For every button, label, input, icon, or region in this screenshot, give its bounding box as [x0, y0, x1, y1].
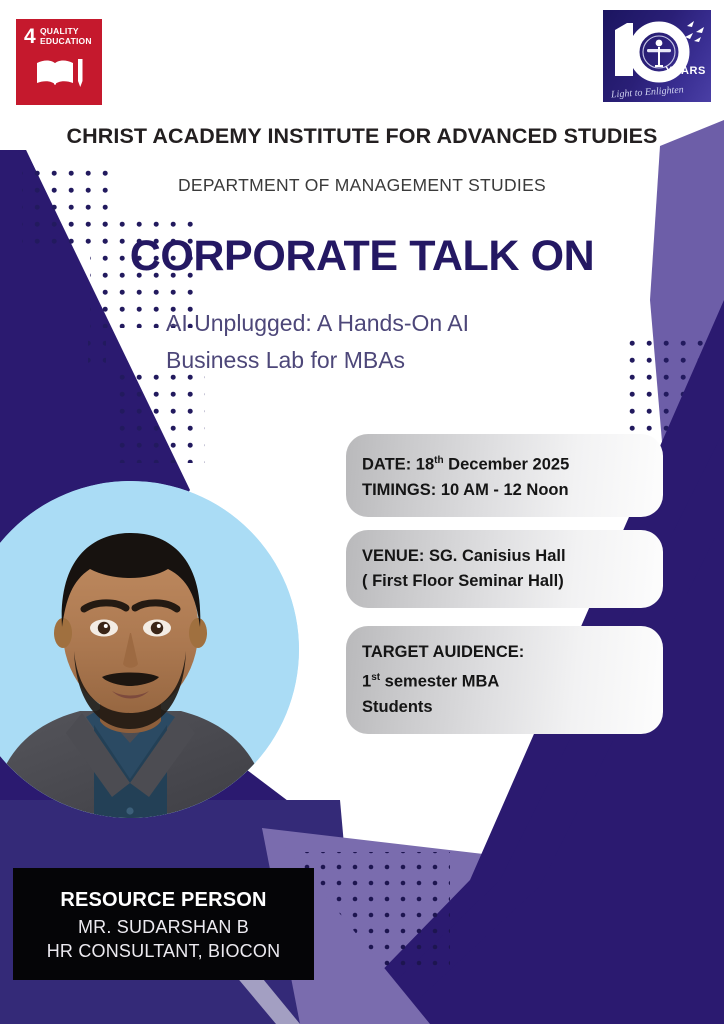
organization-title: CHRIST ACADEMY INSTITUTE FOR ADVANCED ST…	[0, 124, 724, 149]
speaker-portrait	[0, 481, 299, 818]
birds-icon	[685, 21, 704, 42]
date-label: DATE:	[362, 456, 411, 474]
dot-grid-mid-left	[110, 368, 205, 463]
date-value-sup: th	[434, 455, 443, 466]
dot-grid-mid-left-small	[88, 330, 106, 370]
speaker-portrait-graphic	[0, 481, 299, 818]
event-subtitle-line2: Business Lab for MBAs	[166, 342, 586, 379]
date-line: DATE: 18th December 2025	[362, 448, 645, 478]
sdg-label: QUALITY EDUCATION	[40, 27, 94, 46]
open-book-icon	[35, 57, 87, 91]
department-title: DEPARTMENT OF MANAGEMENT STUDIES	[0, 175, 724, 196]
target-value-pre: 1	[362, 673, 371, 691]
target-value-line: 1st semester MBA	[362, 665, 645, 695]
sdg-number: 4	[24, 26, 36, 47]
venue-sub-line: ( First Floor Seminar Hall)	[362, 569, 645, 594]
detail-pill-venue: VENUE: SG. Canisius Hall ( First Floor S…	[346, 530, 663, 608]
resource-person-name: MR. SUDARSHAN B	[78, 915, 249, 939]
timings-label: TIMINGS:	[362, 481, 436, 499]
sdg-label-line2: EDUCATION	[40, 37, 94, 47]
detail-pill-date: DATE: 18th December 2025 TIMINGS: 10 AM …	[346, 434, 663, 517]
timings-value: 10 AM - 12 Noon	[441, 481, 569, 499]
resource-person-heading: RESOURCE PERSON	[60, 889, 266, 912]
date-value-post: December 2025	[444, 456, 570, 474]
target-value-post: semester MBA	[380, 673, 499, 691]
venue-line: VENUE: SG. Canisius Hall	[362, 544, 645, 569]
venue-label: VENUE:	[362, 547, 424, 565]
event-subtitle: AI Unplugged: A Hands-On AI Business Lab…	[166, 305, 586, 379]
venue-value: SG. Canisius Hall	[429, 547, 566, 565]
page-title: CORPORATE TALK ON	[0, 232, 724, 281]
event-poster: 4 QUALITY EDUCATION	[0, 0, 724, 1024]
anniversary-logo: YEARS Light to Enlighten	[603, 10, 711, 102]
timings-line: TIMINGS: 10 AM - 12 Noon	[362, 478, 645, 503]
resource-person-box: RESOURCE PERSON MR. SUDARSHAN B HR CONSU…	[13, 868, 314, 980]
resource-person-role: HR CONSULTANT, BIOCON	[47, 939, 281, 963]
target-label: TARGET AUIDENCE:	[362, 640, 645, 665]
event-subtitle-line1: AI Unplugged: A Hands-On AI	[166, 305, 586, 342]
detail-pill-target-audience: TARGET AUIDENCE: 1st semester MBA Studen…	[346, 626, 663, 734]
target-value-sup: st	[371, 672, 380, 683]
sdg-4-logo: 4 QUALITY EDUCATION	[16, 19, 102, 105]
date-value-pre: 18	[416, 456, 434, 474]
anniversary-years-label: YEARS	[665, 65, 706, 77]
target-value-line2: Students	[362, 695, 645, 720]
